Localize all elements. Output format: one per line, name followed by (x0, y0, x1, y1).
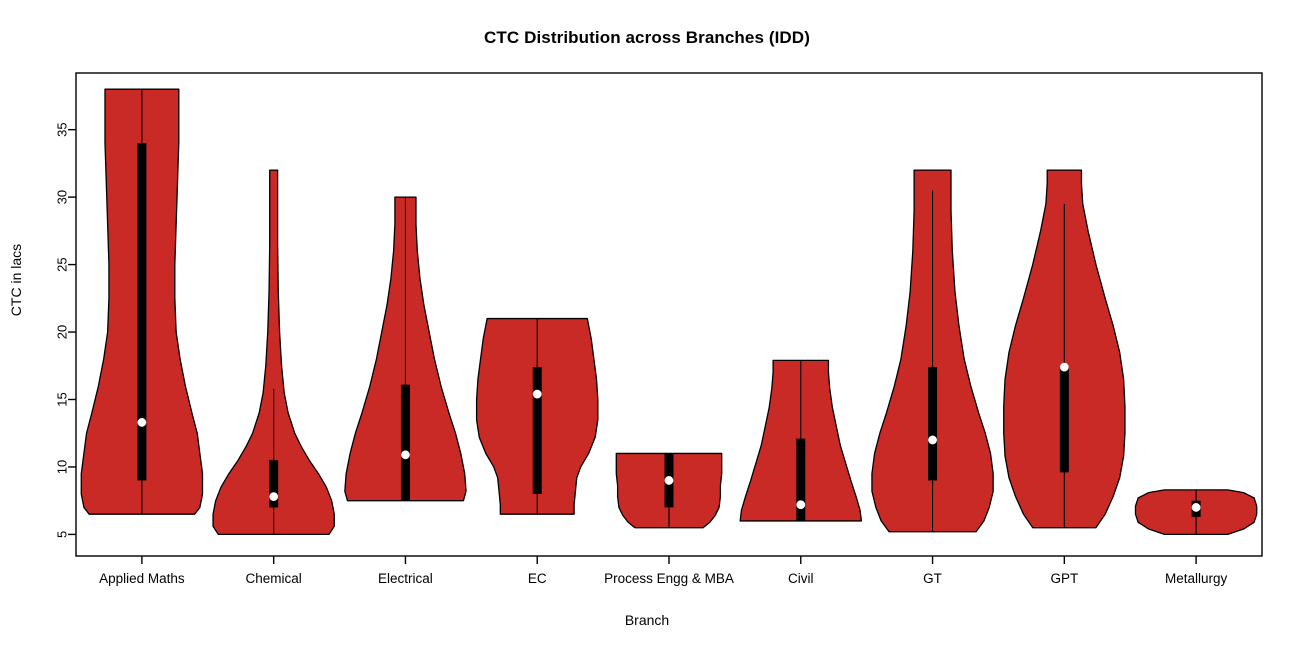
y-tick-label: 30 (55, 190, 70, 204)
violin-civil[interactable] (740, 360, 861, 521)
iqr-box (137, 143, 146, 480)
violin-process-engg-mba[interactable] (616, 453, 721, 527)
median-marker (797, 501, 805, 509)
median-marker (665, 476, 673, 484)
violin-electrical[interactable] (345, 197, 466, 501)
violin-gt[interactable] (872, 170, 993, 532)
violin-metallurgy[interactable] (1135, 490, 1256, 535)
x-tick-label: Process Engg & MBA (604, 571, 734, 586)
y-tick-label: 15 (55, 392, 70, 406)
x-tick-label: GT (923, 571, 942, 586)
x-tick-label: Metallurgy (1165, 571, 1228, 586)
median-marker (928, 436, 936, 444)
y-axis: 5101520253035 (55, 122, 77, 538)
violin-chart: CTC Distribution across Branches (IDD) C… (0, 0, 1294, 653)
y-tick-label: 35 (55, 122, 70, 136)
x-tick-label: Electrical (378, 571, 433, 586)
violin-gpt[interactable] (1004, 170, 1125, 528)
violin-applied-maths[interactable] (81, 89, 202, 514)
iqr-box (1060, 367, 1069, 472)
x-tick-label: GPT (1050, 571, 1078, 586)
iqr-box (401, 385, 410, 501)
x-tick-label: Civil (788, 571, 814, 586)
violin-series-group (81, 89, 1256, 534)
median-marker (1192, 503, 1200, 511)
median-marker (138, 418, 146, 426)
violin-ec[interactable] (477, 319, 598, 515)
median-marker (269, 492, 277, 500)
x-axis: Applied MathsChemicalElectricalECProcess… (99, 556, 1227, 586)
violin-chemical[interactable] (213, 170, 334, 534)
median-marker (401, 451, 409, 459)
y-tick-label: 10 (55, 460, 70, 474)
median-marker (1060, 363, 1068, 371)
x-tick-label: EC (528, 571, 547, 586)
y-tick-label: 5 (55, 531, 70, 538)
median-marker (533, 390, 541, 398)
iqr-box (533, 367, 542, 494)
x-tick-label: Applied Maths (99, 571, 185, 586)
plot-canvas: 5101520253035 Applied MathsChemicalElect… (0, 0, 1294, 653)
y-tick-label: 25 (55, 257, 70, 271)
x-tick-label: Chemical (246, 571, 302, 586)
iqr-box (928, 367, 937, 480)
y-tick-label: 20 (55, 325, 70, 339)
